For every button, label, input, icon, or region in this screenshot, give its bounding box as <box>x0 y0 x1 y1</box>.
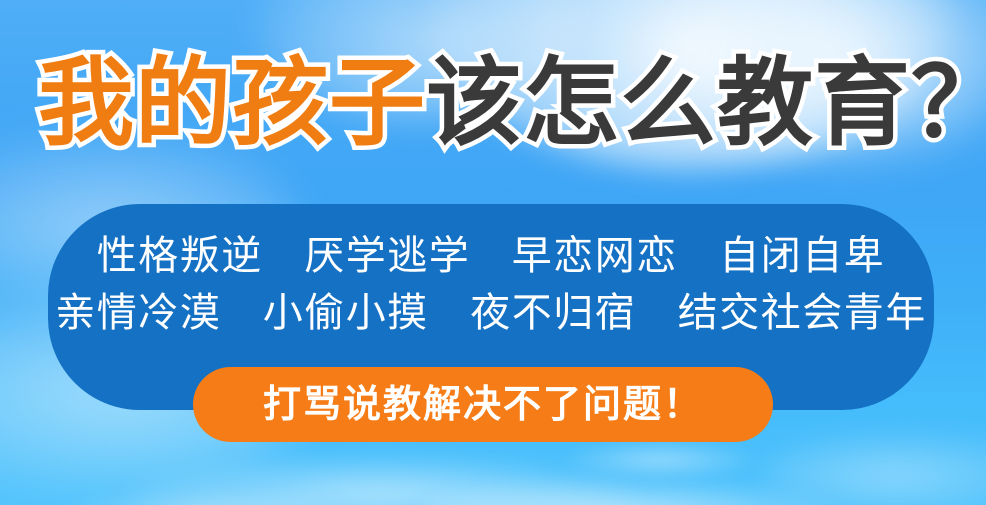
banner-root: 我的孩子 该怎么教育？ 性格叛逆 厌学逃学 早恋网恋 自闭自卑 亲情冷漠 小偷小… <box>0 0 986 505</box>
cta-button-label: 打骂说教解决不了问题！ <box>263 386 703 424</box>
page-title-rest: 该怎么教育？ <box>426 56 986 152</box>
symptom-line-2: 亲情冷漠 小偷小摸 夜不归宿 结交社会青年 <box>55 285 927 342</box>
cta-button[interactable]: 打骂说教解决不了问题！ <box>193 367 773 442</box>
page-title: 我的孩子 该怎么教育？ <box>38 44 958 164</box>
page-title-highlight: 我的孩子 <box>38 56 426 152</box>
symptom-line-1: 性格叛逆 厌学逃学 早恋网恋 自闭自卑 <box>97 228 886 285</box>
